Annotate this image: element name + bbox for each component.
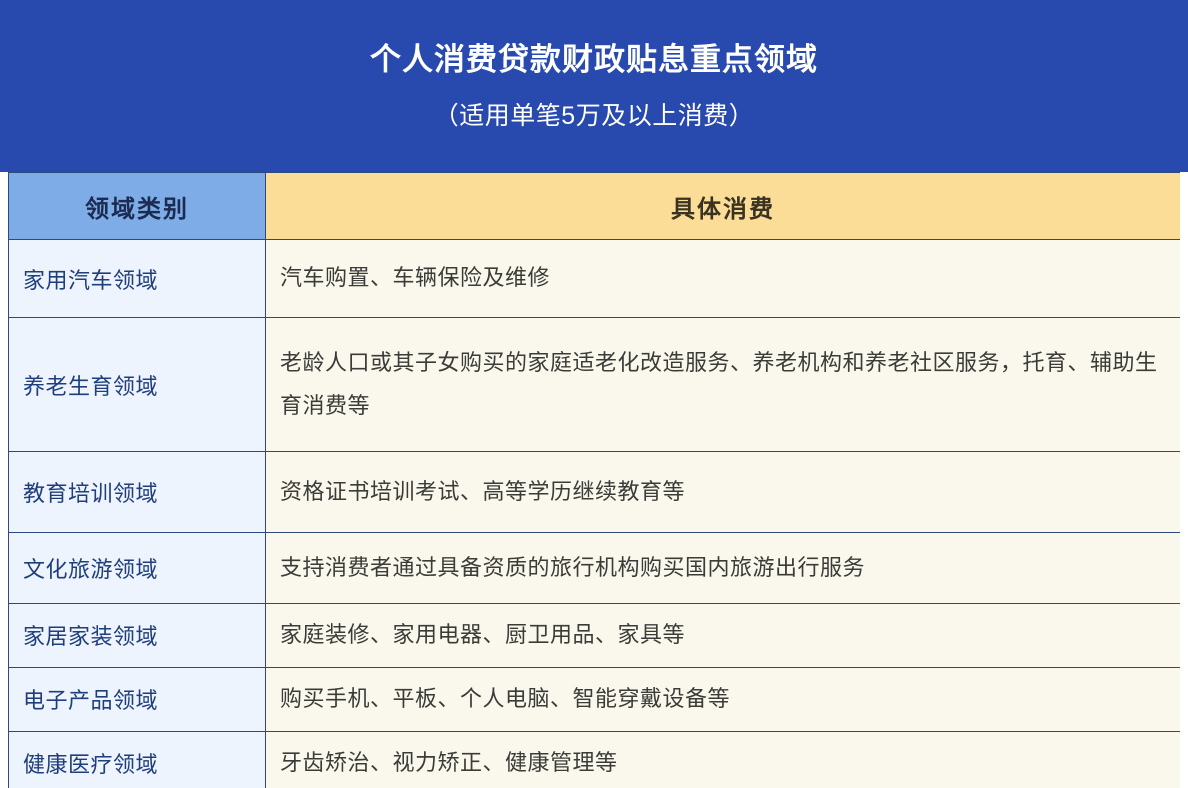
cell-category: 健康医疗领域 bbox=[9, 731, 266, 788]
table-header-row: 领域类别 具体消费 bbox=[9, 173, 1181, 240]
cell-category: 文化旅游领域 bbox=[9, 533, 266, 604]
table-container: 领域类别 具体消费 家用汽车领域 汽车购置、车辆保险及维修 养老生育领域 老龄人… bbox=[8, 172, 1180, 788]
table-row: 教育培训领域 资格证书培训考试、高等学历继续教育等 bbox=[9, 452, 1181, 533]
cell-detail: 牙齿矫治、视力矫正、健康管理等 bbox=[266, 731, 1181, 788]
table-row: 养老生育领域 老龄人口或其子女购买的家庭适老化改造服务、养老机构和养老社区服务，… bbox=[9, 318, 1181, 452]
table-row: 健康医疗领域 牙齿矫治、视力矫正、健康管理等 bbox=[9, 731, 1181, 788]
column-header-detail: 具体消费 bbox=[266, 173, 1181, 240]
table-row: 文化旅游领域 支持消费者通过具备资质的旅行机构购买国内旅游出行服务 bbox=[9, 533, 1181, 604]
infographic-root: 个人消费贷款财政贴息重点领域 （适用单笔5万及以上消费） 领域类别 具体消费 家… bbox=[0, 0, 1188, 788]
cell-category: 养老生育领域 bbox=[9, 318, 266, 452]
table-row: 家居家装领域 家庭装修、家用电器、厨卫用品、家具等 bbox=[9, 604, 1181, 668]
cell-category: 电子产品领域 bbox=[9, 667, 266, 731]
table-row: 家用汽车领域 汽车购置、车辆保险及维修 bbox=[9, 240, 1181, 318]
table-body: 家用汽车领域 汽车购置、车辆保险及维修 养老生育领域 老龄人口或其子女购买的家庭… bbox=[9, 240, 1181, 788]
page-title: 个人消费贷款财政贴息重点领域 bbox=[370, 41, 818, 78]
cell-category: 家居家装领域 bbox=[9, 604, 266, 668]
cell-detail: 支持消费者通过具备资质的旅行机构购买国内旅游出行服务 bbox=[266, 533, 1181, 604]
cell-detail: 汽车购置、车辆保险及维修 bbox=[266, 240, 1181, 318]
cell-detail: 购买手机、平板、个人电脑、智能穿戴设备等 bbox=[266, 667, 1181, 731]
cell-category: 家用汽车领域 bbox=[9, 240, 266, 318]
cell-detail: 家庭装修、家用电器、厨卫用品、家具等 bbox=[266, 604, 1181, 668]
table-header: 领域类别 具体消费 bbox=[9, 173, 1181, 240]
column-header-category: 领域类别 bbox=[9, 173, 266, 240]
cell-detail: 资格证书培训考试、高等学历继续教育等 bbox=[266, 452, 1181, 533]
page-subtitle: （适用单笔5万及以上消费） bbox=[434, 101, 754, 131]
cell-detail: 老龄人口或其子女购买的家庭适老化改造服务、养老机构和养老社区服务，托育、辅助生育… bbox=[266, 318, 1181, 452]
table-row: 电子产品领域 购买手机、平板、个人电脑、智能穿戴设备等 bbox=[9, 667, 1181, 731]
policy-table: 领域类别 具体消费 家用汽车领域 汽车购置、车辆保险及维修 养老生育领域 老龄人… bbox=[8, 172, 1180, 788]
banner-header: 个人消费贷款财政贴息重点领域 （适用单笔5万及以上消费） bbox=[0, 0, 1188, 172]
cell-category: 教育培训领域 bbox=[9, 452, 266, 533]
